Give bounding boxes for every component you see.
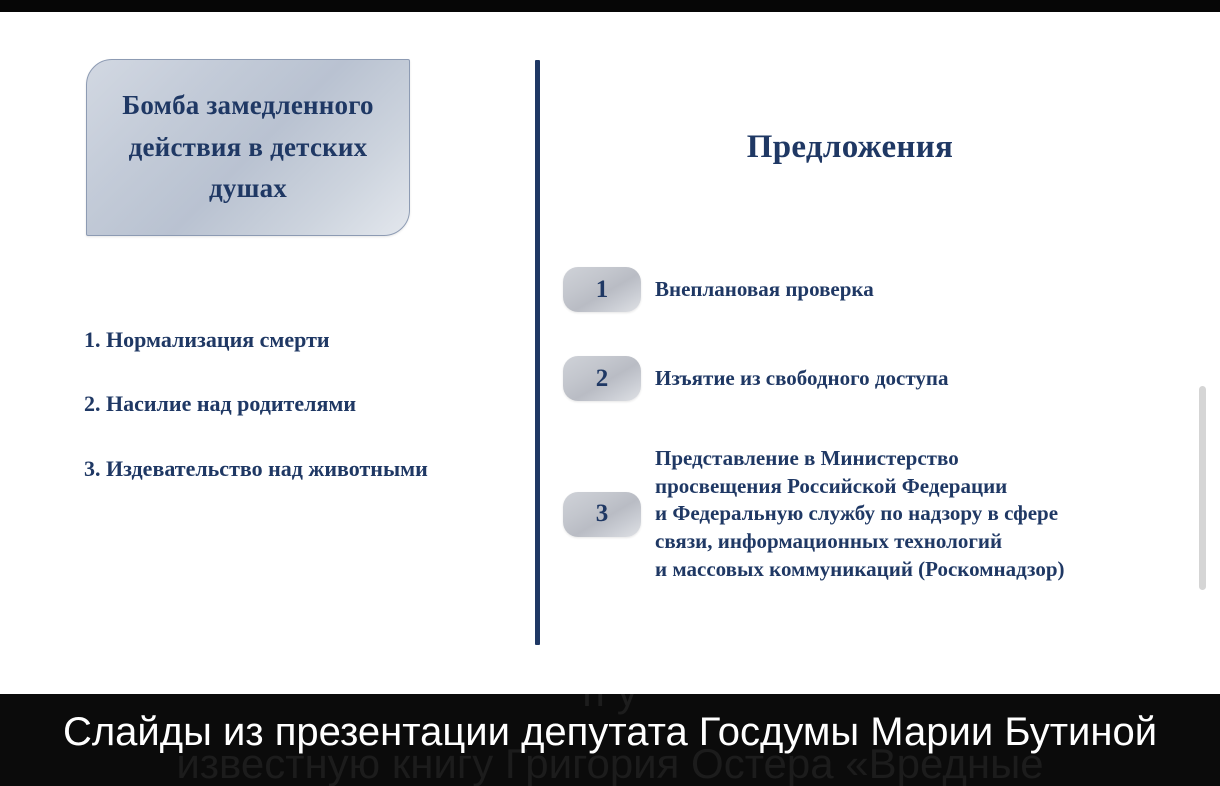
list-item: 1. Нормализация смерти: [84, 327, 514, 353]
proposals-list: 1 Внеплановая проверка 2 Изъятие из своб…: [563, 267, 1183, 584]
proposal-row: 2 Изъятие из свободного доступа: [563, 356, 1183, 401]
caption-text: Слайды из презентации депутата Госдумы М…: [0, 710, 1220, 755]
vertical-divider: [535, 60, 540, 645]
left-numbered-list: 1. Нормализация смерти 2. Насилие над ро…: [84, 327, 514, 482]
top-letterbox-band: [0, 0, 1220, 12]
presentation-slide: Бомба замедленного действия в детских ду…: [0, 12, 1220, 694]
proposal-text: Внеплановая проверка: [655, 276, 874, 304]
caption-bar: п у известную книгу Григория Остера «Вре…: [0, 694, 1220, 786]
list-item: 2. Насилие над родителями: [84, 391, 514, 417]
proposal-text: Изъятие из свободного доступа: [655, 365, 949, 393]
slide-title-text: Бомба замедленного действия в детских ду…: [87, 85, 409, 210]
proposal-number-badge: 1: [563, 267, 641, 312]
slide-title-box: Бомба замедленного действия в детских ду…: [86, 59, 410, 236]
proposals-heading: Предложения: [600, 129, 1100, 166]
proposal-number-badge: 3: [563, 492, 641, 537]
proposal-row: 1 Внеплановая проверка: [563, 267, 1183, 312]
page-scrollbar-thumb[interactable]: [1199, 386, 1206, 590]
proposal-text: Представление в Министерство просвещения…: [655, 445, 1065, 584]
proposal-row: 3 Представление в Министерство просвещен…: [563, 445, 1183, 584]
proposal-number-badge: 2: [563, 356, 641, 401]
list-item: 3. Издевательство над животными: [84, 456, 514, 482]
